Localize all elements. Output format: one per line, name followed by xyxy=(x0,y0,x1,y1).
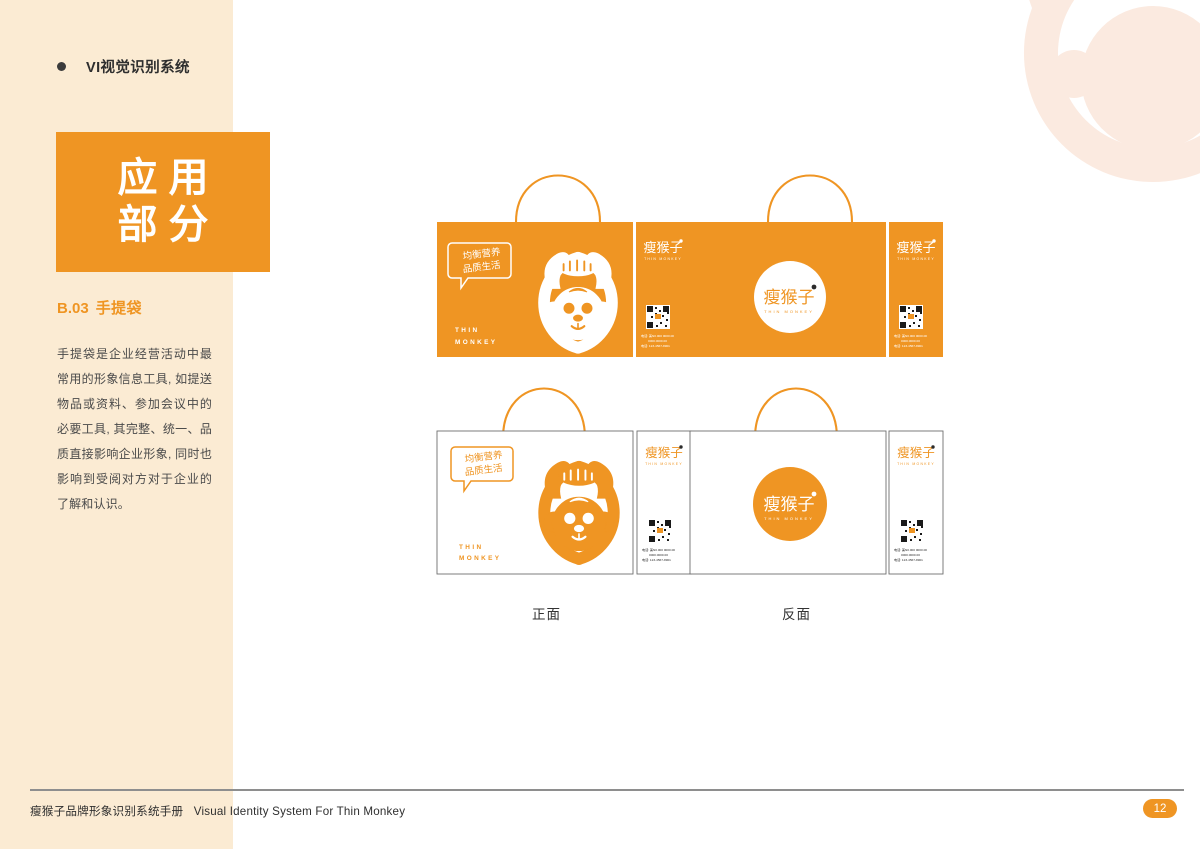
caption-front: 正面 xyxy=(532,603,561,623)
footer-title-en: Visual Identity System For Thin Monkey xyxy=(194,805,405,818)
title-line-2: 部分 xyxy=(107,203,220,248)
header-title: VI视觉识别系统 xyxy=(86,56,190,77)
section-name: 手提袋 xyxy=(96,300,142,317)
page-header: VI视觉识别系统 xyxy=(57,56,190,77)
footer-title-cn: 瘦猴子品牌形象识别系统手册 xyxy=(30,805,183,818)
bullet-icon xyxy=(57,62,66,71)
section-heading: B.03手提袋 xyxy=(57,297,142,318)
section-title-block: 应用 部分 xyxy=(56,132,270,272)
page-number-badge: 12 xyxy=(1143,799,1177,818)
title-line-1: 应用 xyxy=(107,156,220,201)
section-description: 手提袋是企业经营活动中最常用的形象信息工具, 如提送物品或资料、参加会议中的必要… xyxy=(57,342,212,517)
footer-divider xyxy=(30,789,1184,791)
footer-text: 瘦猴子品牌形象识别系统手册 Visual Identity System For… xyxy=(30,803,405,819)
section-number: B.03 xyxy=(57,300,89,317)
caption-back: 反面 xyxy=(782,603,811,623)
